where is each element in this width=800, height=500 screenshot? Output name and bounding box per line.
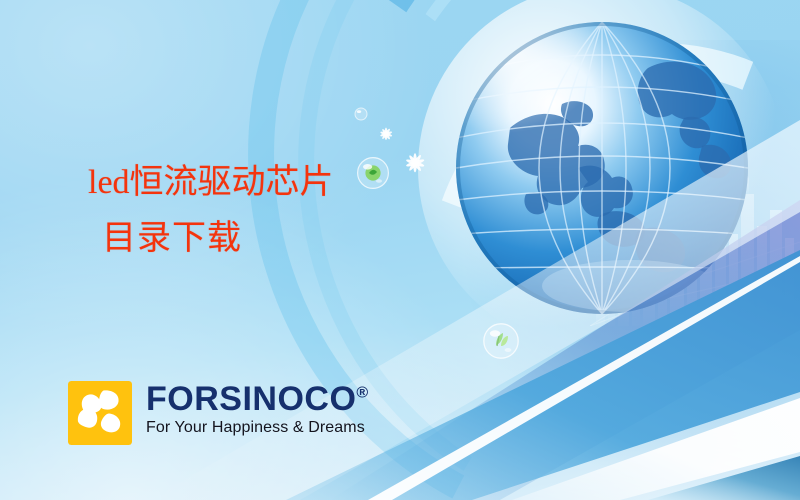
- headline: led恒流驱动芯片 目录下载: [88, 166, 334, 256]
- sparkle-flower-1: [376, 124, 396, 144]
- logo-tagline: For Your Happiness & Dreams: [146, 419, 368, 437]
- logo-wordmark: FORSINOCO®: [146, 382, 368, 417]
- registered-trademark-icon: ®: [356, 385, 368, 402]
- globe-illustration: [452, 18, 752, 318]
- bubble-small-1: [354, 107, 368, 121]
- sparkle-flower-2: [400, 148, 430, 178]
- promo-banner: led恒流驱动芯片 目录下载 FORSINOCO® For Your Happi…: [0, 0, 800, 500]
- bubble-leaf-1: [482, 322, 520, 360]
- ribbon-white-band: [512, 398, 800, 500]
- headline-line-2: 目录下载: [102, 222, 334, 256]
- forsinoco-pinwheel-mark: [68, 381, 132, 445]
- bubble-globe-1: [356, 156, 390, 190]
- ribbon-teal-edge: [648, 456, 800, 500]
- logo-wordmark-text: FORSINOCO: [146, 380, 356, 418]
- brand-logo[interactable]: FORSINOCO® For Your Happiness & Dreams: [68, 381, 368, 445]
- logo-text-block: FORSINOCO® For Your Happiness & Dreams: [146, 381, 368, 437]
- headline-line-1: led恒流驱动芯片: [88, 166, 334, 200]
